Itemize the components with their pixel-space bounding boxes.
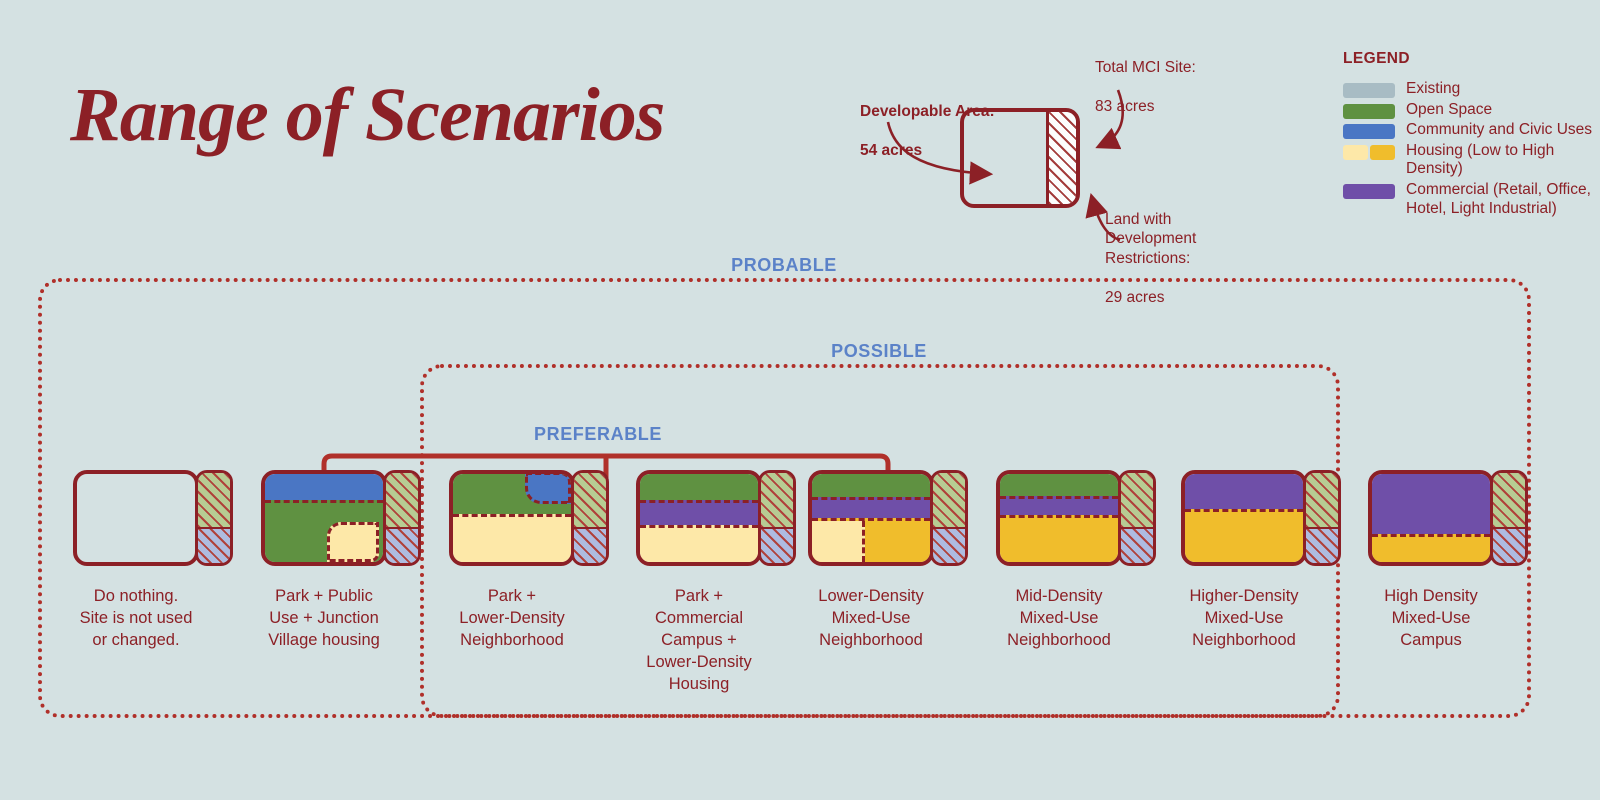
land-use-corner-patch <box>327 522 379 562</box>
strip-open-space-hatch <box>933 473 965 527</box>
land-use-segment <box>1185 474 1303 509</box>
scenario-land-use-tile <box>1368 470 1494 566</box>
tile-land-use-stack <box>1185 474 1303 562</box>
legend-item-label: Open Space <box>1406 101 1492 120</box>
land-use-corner-patch <box>525 474 571 504</box>
land-use-segment <box>640 474 758 500</box>
strip-existing-hatch <box>1306 527 1338 563</box>
legend-swatch <box>1343 184 1395 199</box>
land-use-sub-segment <box>812 521 865 562</box>
legend-item: Existing <box>1343 80 1593 99</box>
strip-open-space-hatch <box>1493 473 1525 527</box>
land-use-segment <box>640 500 758 525</box>
land-use-segment <box>265 474 383 500</box>
probable-band-label: PROBABLE <box>731 255 837 276</box>
tile-land-use-stack <box>1000 474 1118 562</box>
tile-land-use-stack <box>265 474 383 562</box>
scenario-land-use-tile <box>1181 470 1307 566</box>
tile-land-use-stack <box>1372 474 1490 562</box>
land-use-segment <box>640 525 758 562</box>
scenario-card[interactable]: Higher-Density Mixed-Use Neighborhood <box>1156 470 1332 652</box>
scenario-card[interactable]: Mid-Density Mixed-Use Neighborhood <box>971 470 1147 652</box>
strip-open-space-hatch <box>574 473 606 527</box>
scenario-card-label: Park + Public Use + Junction Village hou… <box>236 586 412 652</box>
total-site-note: Total MCI Site: 83 acres <box>1095 38 1196 136</box>
legend-item-label: Commercial (Retail, Office, Hotel, Light… <box>1406 181 1593 218</box>
page-title: Range of Scenarios <box>70 72 664 159</box>
tile-land-use-stack <box>453 474 571 562</box>
legend-swatch-color <box>1370 145 1395 160</box>
scenario-land-use-tile <box>996 470 1122 566</box>
strip-existing-hatch <box>574 527 606 563</box>
strip-open-space-hatch <box>386 473 418 527</box>
land-use-segment <box>1372 534 1490 562</box>
land-use-segment <box>1000 496 1118 515</box>
land-use-segment <box>812 474 930 497</box>
scenario-land-use-tile <box>73 470 199 566</box>
scenario-card-row: Do nothing. Site is not used or changed.… <box>0 470 1600 710</box>
strip-open-space-hatch <box>198 473 230 527</box>
restricted-land-strip <box>930 470 968 566</box>
land-use-segment <box>1185 509 1303 562</box>
legend-swatch <box>1343 104 1395 119</box>
scenario-land-use-tile <box>636 470 762 566</box>
scenario-land-use-tile <box>261 470 387 566</box>
legend-item-label: Housing (Low to High Density) <box>1406 142 1593 179</box>
land-use-segment <box>1000 474 1118 496</box>
strip-existing-hatch <box>1493 527 1525 563</box>
tile-land-use-stack <box>812 474 930 562</box>
land-use-segment <box>812 497 930 518</box>
legend-swatch-color <box>1343 184 1395 199</box>
strip-open-space-hatch <box>761 473 793 527</box>
legend-item: Commercial (Retail, Office, Hotel, Light… <box>1343 181 1593 218</box>
strip-existing-hatch <box>1121 527 1153 563</box>
legend-swatch-color <box>1343 104 1395 119</box>
legend-item: Open Space <box>1343 101 1593 120</box>
scenario-card[interactable]: Park + Public Use + Junction Village hou… <box>236 470 412 652</box>
legend-swatch-color <box>1343 124 1395 139</box>
preferable-band-label: PREFERABLE <box>534 424 662 445</box>
legend-rows: ExistingOpen SpaceCommunity and Civic Us… <box>1343 80 1593 218</box>
tile-land-use-stack <box>77 474 195 562</box>
scenario-card-label: Do nothing. Site is not used or changed. <box>48 586 224 652</box>
restricted-land-strip <box>1490 470 1528 566</box>
scenario-card-label: Mid-Density Mixed-Use Neighborhood <box>971 586 1147 652</box>
range-of-scenarios-infographic: Range of Scenarios Developable Area: 54 … <box>0 0 1600 800</box>
legend: LEGEND ExistingOpen SpaceCommunity and C… <box>1343 50 1593 220</box>
legend-swatch <box>1343 124 1395 139</box>
legend-title: LEGEND <box>1343 50 1593 68</box>
strip-existing-hatch <box>761 527 793 563</box>
scenario-card[interactable]: Park + Commercial Campus + Lower-Density… <box>611 470 787 696</box>
land-use-segment <box>453 514 571 562</box>
legend-swatch <box>1343 83 1395 98</box>
scenario-card[interactable]: Lower-Density Mixed-Use Neighborhood <box>783 470 959 652</box>
legend-item: Community and Civic Uses <box>1343 121 1593 140</box>
developable-area-note: Developable Area: 54 acres <box>860 82 995 180</box>
scenario-land-use-tile <box>449 470 575 566</box>
site-acreage-diagram: Developable Area: 54 acres Total MCI Sit… <box>860 30 1260 280</box>
restricted-land-hatch <box>1046 112 1076 204</box>
restricted-land-strip <box>383 470 421 566</box>
strip-open-space-hatch <box>1121 473 1153 527</box>
land-use-segment <box>1372 474 1490 534</box>
land-use-segment <box>812 518 930 562</box>
legend-item-label: Existing <box>1406 80 1460 99</box>
restricted-land-strip <box>571 470 609 566</box>
strip-existing-hatch <box>933 527 965 563</box>
scenario-card-label: Higher-Density Mixed-Use Neighborhood <box>1156 586 1332 652</box>
restricted-land-strip <box>1118 470 1156 566</box>
legend-swatch-color <box>1343 145 1368 160</box>
tile-land-use-stack <box>640 474 758 562</box>
scenario-land-use-tile <box>808 470 934 566</box>
scenario-card-label: High Density Mixed-Use Campus <box>1343 586 1519 652</box>
scenario-card[interactable]: Park + Lower-Density Neighborhood <box>424 470 600 652</box>
strip-existing-hatch <box>386 527 418 563</box>
scenario-card-label: Park + Commercial Campus + Lower-Density… <box>611 586 787 696</box>
possible-band-label: POSSIBLE <box>831 341 927 362</box>
legend-item-label: Community and Civic Uses <box>1406 121 1592 140</box>
scenario-card[interactable]: Do nothing. Site is not used or changed. <box>48 470 224 652</box>
legend-swatch-color <box>1343 83 1395 98</box>
legend-swatch <box>1343 145 1395 160</box>
land-use-segment <box>1000 515 1118 562</box>
scenario-card-label: Park + Lower-Density Neighborhood <box>424 586 600 652</box>
restricted-land-strip <box>195 470 233 566</box>
strip-open-space-hatch <box>1306 473 1338 527</box>
strip-existing-hatch <box>198 527 230 563</box>
scenario-card-label: Lower-Density Mixed-Use Neighborhood <box>783 586 959 652</box>
scenario-card[interactable]: High Density Mixed-Use Campus <box>1343 470 1519 652</box>
restricted-land-strip <box>1303 470 1341 566</box>
restricted-land-strip <box>758 470 796 566</box>
legend-item: Housing (Low to High Density) <box>1343 142 1593 179</box>
